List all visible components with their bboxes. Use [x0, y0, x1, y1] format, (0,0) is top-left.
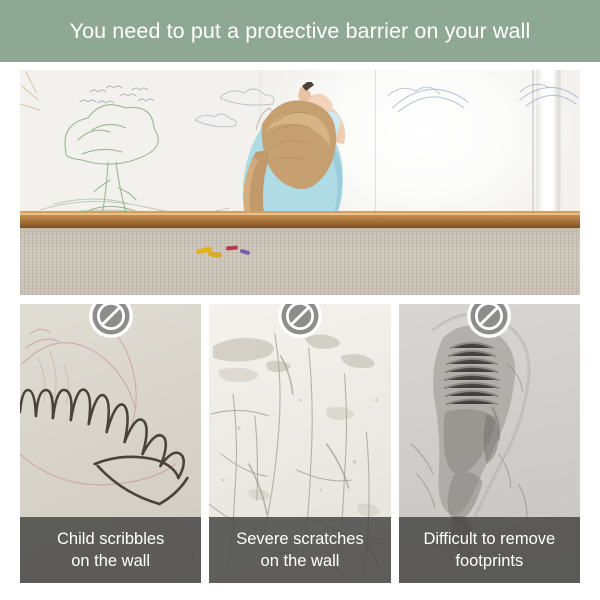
caption-line-2: footprints — [455, 552, 523, 570]
panel-caption-footprints: Difficult to remove footprints — [399, 517, 580, 583]
caption-line-1: Severe scratches — [236, 530, 363, 548]
headline-banner: You need to put a protective barrier on … — [0, 0, 600, 62]
caption-text: Severe scratches on the wall — [230, 528, 369, 573]
caption-line-2: on the wall — [71, 552, 150, 570]
caption-line-1: Child scribbles — [57, 530, 164, 548]
prohibition-icon — [88, 304, 134, 339]
hero-baseboard-highlight — [20, 213, 580, 215]
product-infographic-page: You need to put a protective barrier on … — [0, 0, 600, 600]
panel-caption-scratches: Severe scratches on the wall — [209, 517, 390, 583]
caption-line-1: Difficult to remove — [423, 530, 555, 548]
panel-difficult-footprints[interactable]: Difficult to remove footprints — [399, 304, 580, 583]
hero-carpet — [20, 228, 580, 295]
panel-severe-scratches[interactable]: Severe scratches on the wall — [209, 304, 390, 583]
crayons-on-floor — [20, 228, 580, 295]
caption-text: Difficult to remove footprints — [417, 528, 561, 573]
caption-text: Child scribbles on the wall — [51, 528, 170, 573]
problem-panels-row: Child scribbles on the wall — [20, 304, 580, 583]
prohibition-icon — [277, 304, 323, 339]
panel-caption-scribbles: Child scribbles on the wall — [20, 517, 201, 583]
hero-image-child-drawing-on-wall — [20, 70, 580, 295]
panel-child-scribbles[interactable]: Child scribbles on the wall — [20, 304, 201, 583]
caption-line-2: on the wall — [261, 552, 340, 570]
page-title: You need to put a protective barrier on … — [70, 19, 531, 44]
prohibition-icon — [466, 304, 512, 339]
